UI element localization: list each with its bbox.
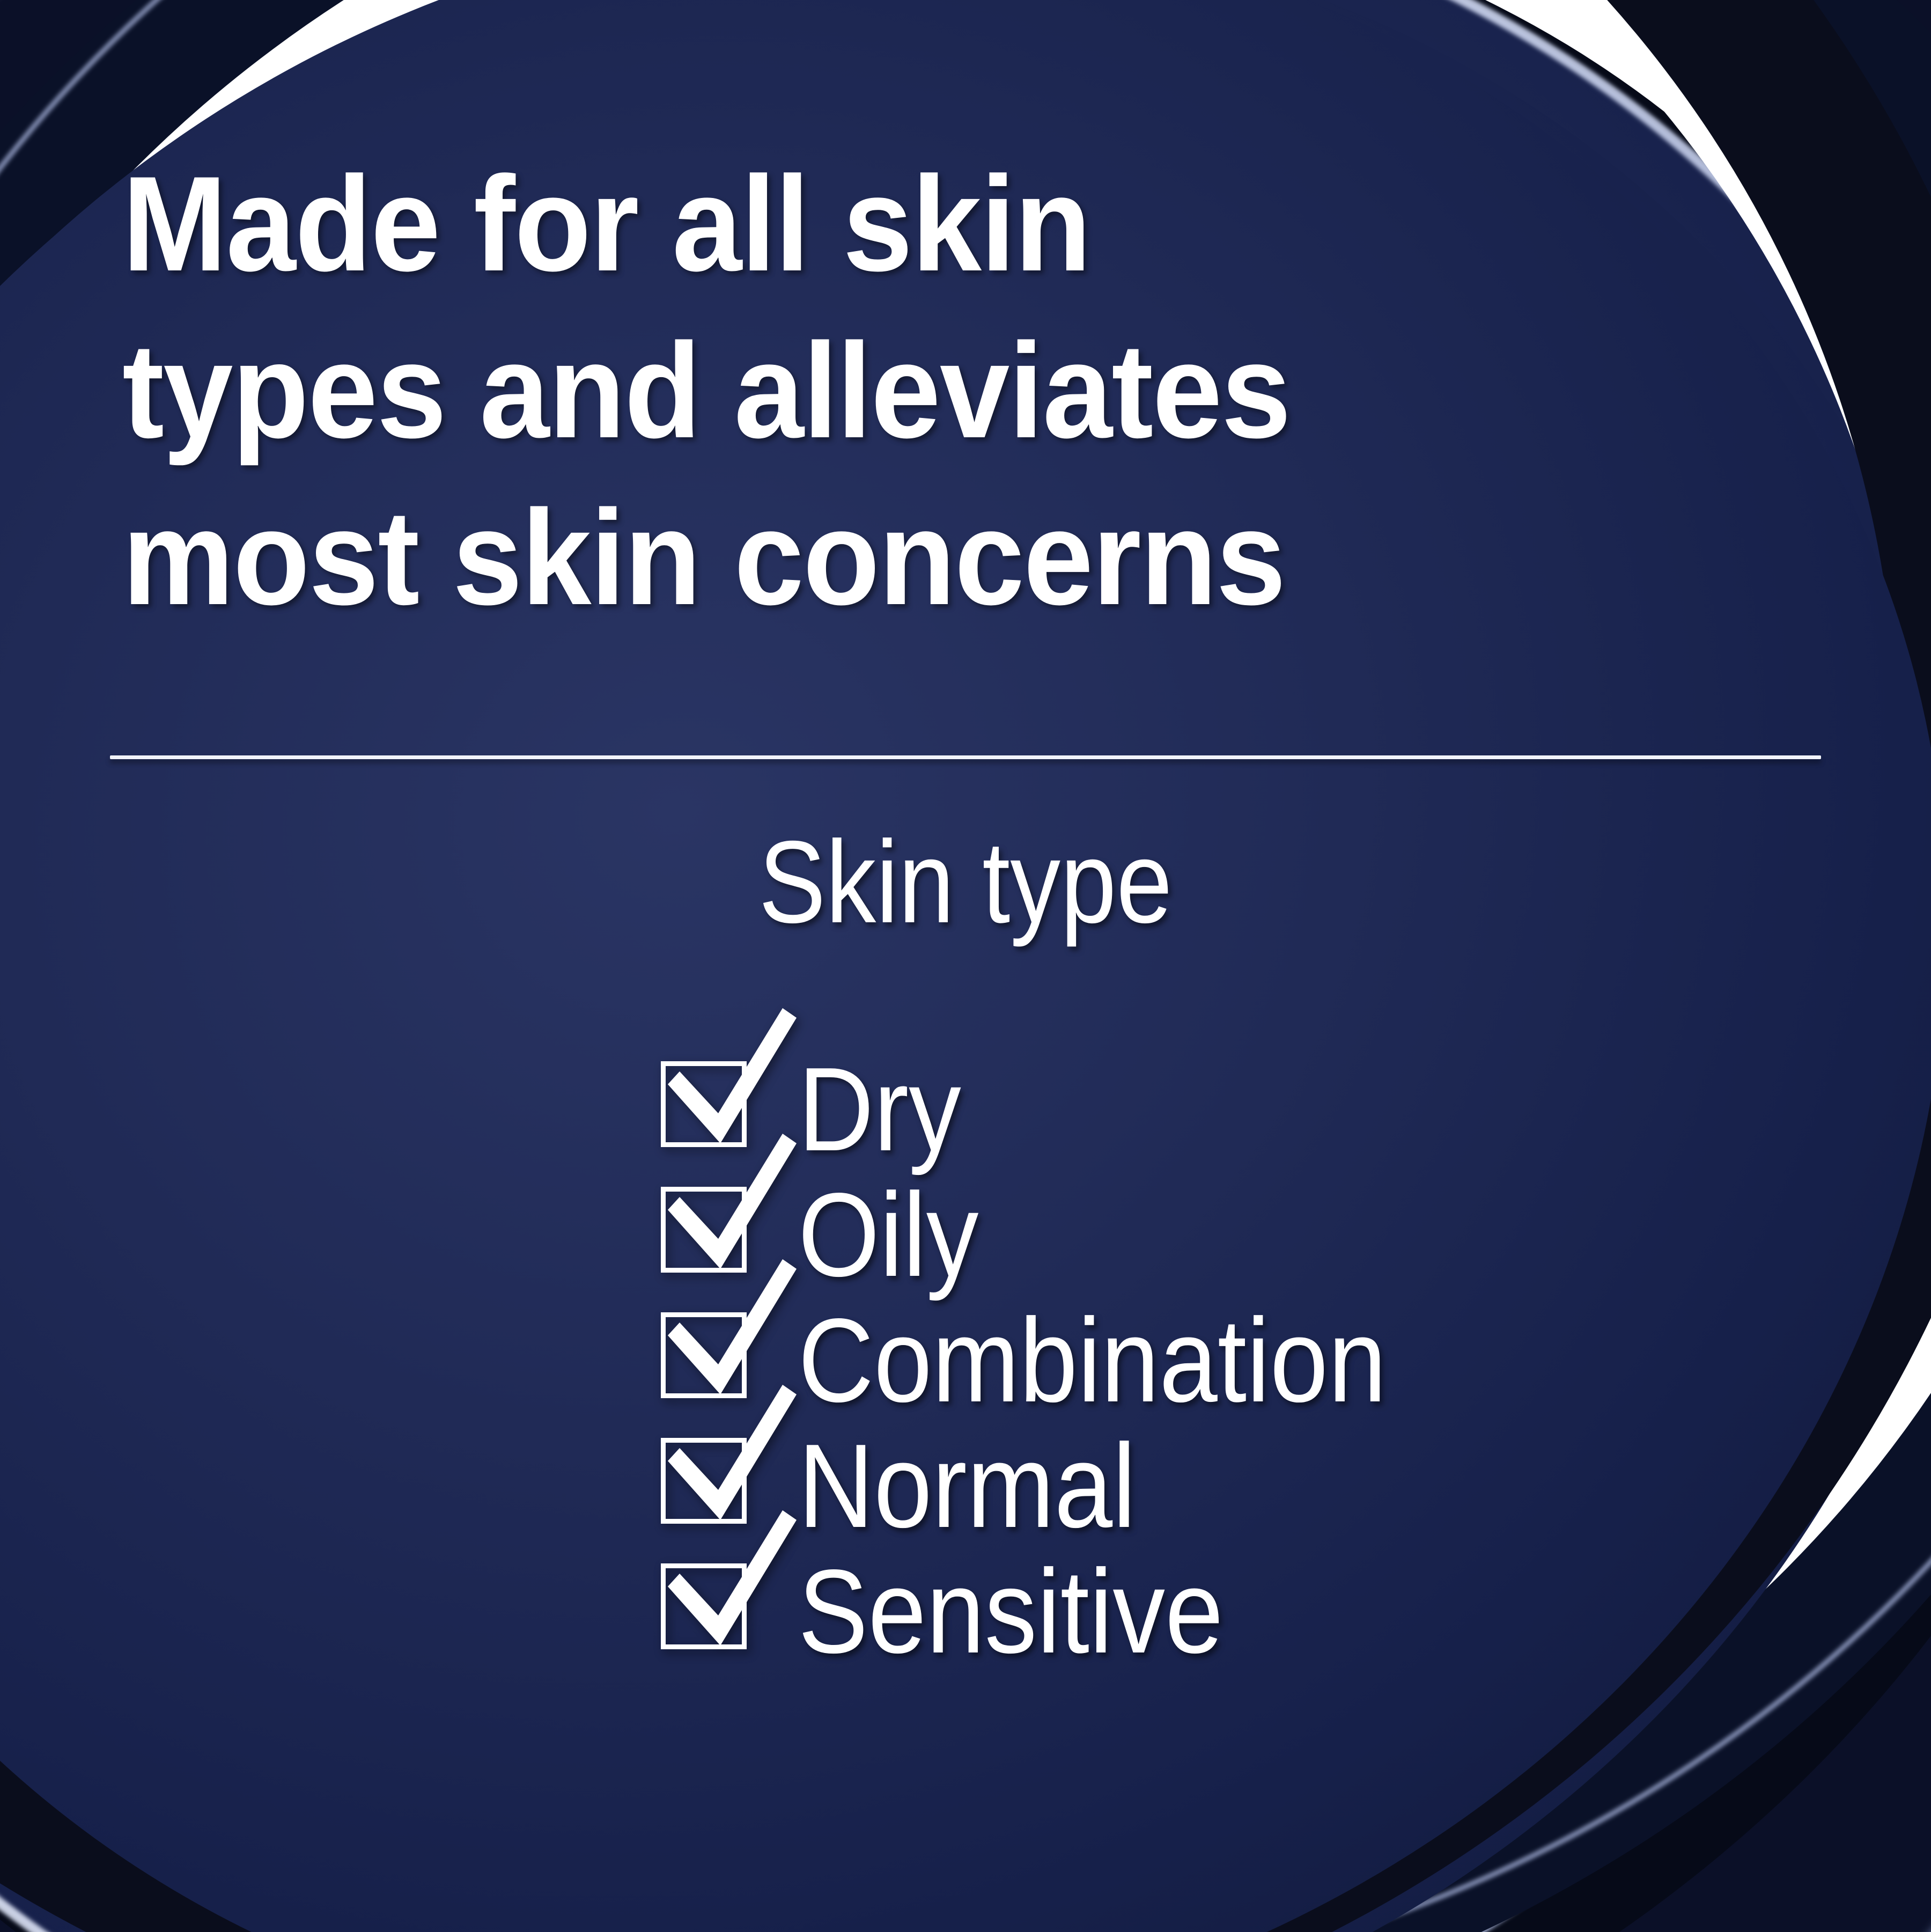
checkbox-label-oily: Oily [798,1172,978,1298]
checkbox-label-normal: Normal [798,1423,1136,1549]
checkbox-label-combination: Combination [798,1297,1387,1424]
title-divider [110,755,1821,759]
list-item[interactable]: Combination [661,1303,1787,1428]
list-item[interactable]: Oily [661,1177,1787,1303]
list-item[interactable]: Normal [661,1428,1787,1554]
checkbox-sensitive[interactable] [661,1563,747,1649]
checkbox-label-dry: Dry [798,1046,961,1173]
checkbox-label-sensitive: Sensitive [798,1548,1224,1675]
section-heading-skin-type: Skin type [135,821,1796,944]
product-infographic-card: Made for all skin types and alleviates m… [0,0,1931,1932]
checkmark-icon [658,1505,803,1661]
content-layer: Made for all skin types and alleviates m… [0,0,1931,1932]
list-item[interactable]: Sensitive [661,1554,1787,1679]
list-item[interactable]: Dry [661,1052,1787,1177]
skin-type-checklist: Dry Oily [661,1052,1787,1679]
page-title: Made for all skin types and alleviates m… [122,141,1708,641]
